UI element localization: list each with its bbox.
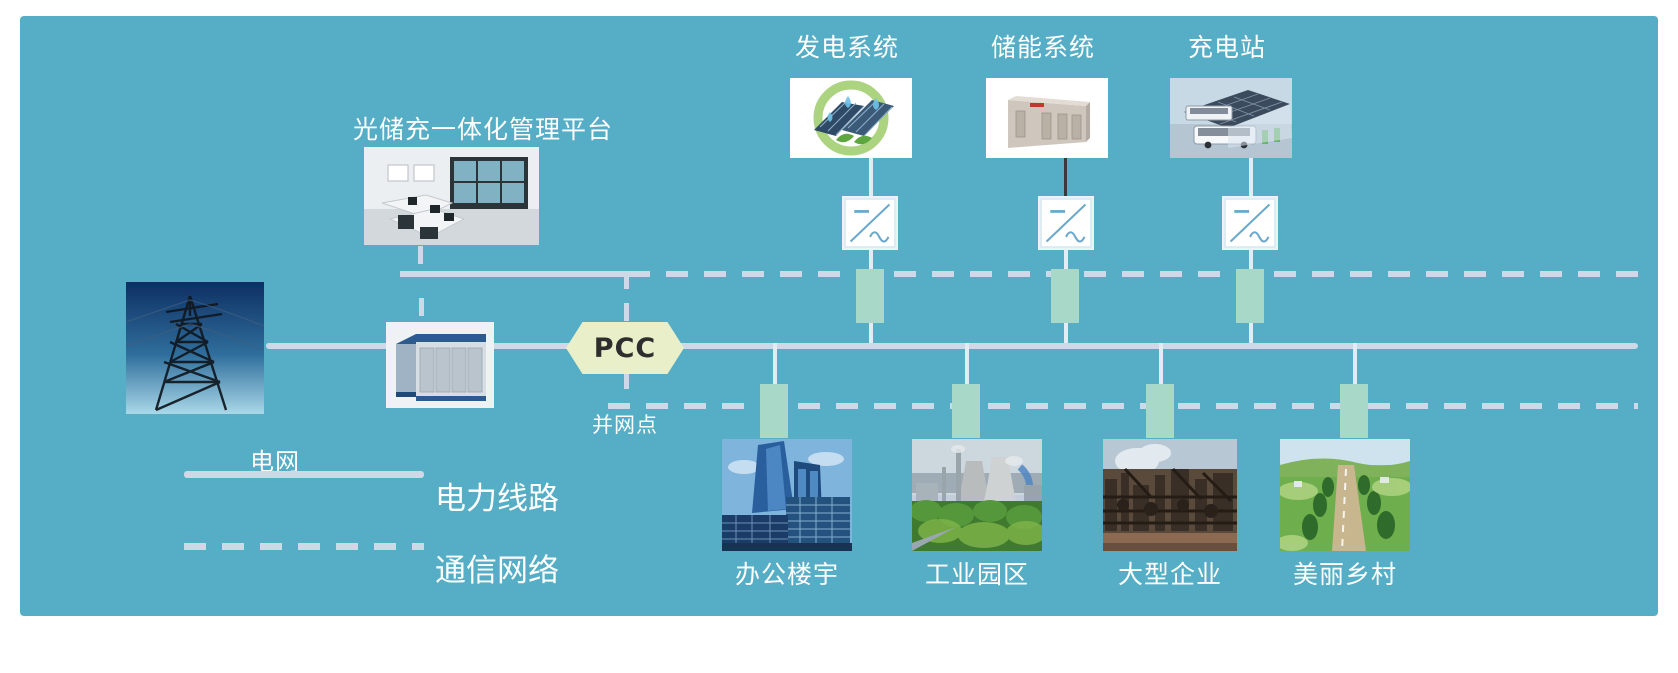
comm-branch-platform (418, 271, 628, 277)
tower-to-substation-line (266, 343, 386, 348)
legend-swatch-comm-network (184, 543, 424, 550)
diagram-board: 电网 光储充一体化管理平台 (20, 16, 1658, 616)
office-building-photo (722, 439, 852, 551)
legend-swatch-power-line (184, 471, 424, 478)
legend-label-comm-network: 通信网络 (435, 545, 559, 590)
comm-drop-substation (419, 298, 424, 324)
comm-node-source-0 (856, 269, 884, 323)
inverter-icon-2 (1222, 196, 1278, 250)
comm-spine-pcc-bottom (624, 371, 629, 409)
diagram-canvas: 电网 光储充一体化管理平台 (0, 0, 1678, 673)
source-label-0: 发电系统 (777, 34, 917, 62)
beautiful-village-photo (1280, 439, 1410, 551)
control-room-photo (364, 147, 539, 245)
transmission-tower-photo (126, 282, 264, 414)
substation-cabinet-photo (386, 322, 494, 408)
legend-label-power-line: 电力线路 (435, 473, 559, 518)
comm-node-load-0 (760, 384, 788, 438)
inverter-icon-0 (842, 196, 898, 250)
source-label-1: 储能系统 (973, 34, 1113, 62)
large-enterprise-photo (1103, 439, 1237, 551)
platform-label: 光储充一体化管理平台 (353, 116, 613, 144)
load-label-0: 办公楼宇 (717, 561, 857, 589)
source-riser-1 (1064, 158, 1067, 196)
solar-pv-photo (790, 78, 912, 158)
inverter-icon-1 (1038, 196, 1094, 250)
industrial-park-photo (912, 439, 1042, 551)
source-riser-2 (1249, 158, 1253, 196)
comm-spine-pcc-top (624, 271, 629, 321)
source-riser-0 (869, 158, 873, 196)
comm-node-load-1 (952, 384, 980, 438)
comm-node-source-1 (1051, 269, 1079, 323)
comm-node-load-3 (1340, 384, 1368, 438)
load-label-3: 美丽乡村 (1275, 561, 1415, 589)
load-label-2: 大型企业 (1100, 561, 1240, 589)
energy-storage-container-photo (986, 78, 1108, 158)
source-label-2: 充电站 (1157, 34, 1297, 62)
pcc-node[interactable]: PCC (566, 322, 684, 374)
comm-node-load-2 (1146, 384, 1174, 438)
comm-node-source-2 (1236, 269, 1264, 323)
charging-station-photo (1170, 78, 1292, 158)
load-label-1: 工业园区 (907, 561, 1047, 589)
pcc-sublabel: 并网点 (575, 414, 675, 437)
